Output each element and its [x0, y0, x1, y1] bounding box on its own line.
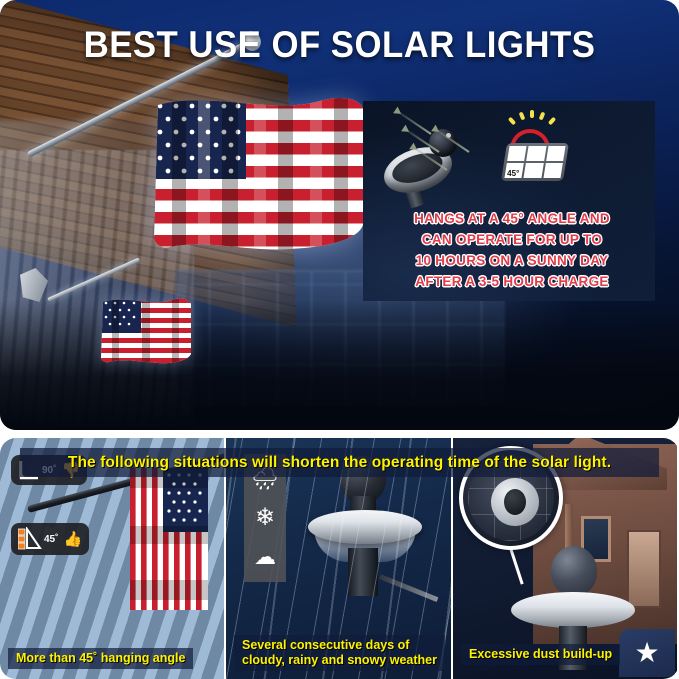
- panel-cell: [546, 146, 566, 161]
- american-flag-vertical: [130, 468, 208, 610]
- panel1-caption: More than 45˚ hanging angle: [8, 648, 193, 669]
- star-icon: ★: [634, 639, 659, 667]
- warning-banner: The following situations will shorten th…: [20, 448, 659, 477]
- panel3-caption: Excessive dust build-up: [461, 644, 620, 665]
- solar-panel-sun-icon: 45°: [496, 115, 574, 185]
- thumbs-up-icon: 👍: [63, 530, 82, 548]
- info-line: HANGS AT A 45° ANGLE AND: [381, 208, 643, 229]
- page-title: BEST USE OF SOLAR LIGHTS: [20, 24, 658, 66]
- panel-angle-label: 45°: [507, 169, 519, 178]
- info-line: CAN OPERATE FOR UP TO: [381, 229, 643, 250]
- info-panel: 45° HANGS AT A 45° ANGLE AND CAN OPERATE…: [363, 101, 655, 301]
- snowflake-icon: ❄: [255, 506, 275, 530]
- flag-star-decor: ★: [619, 629, 675, 677]
- panel2-caption: Several consecutive days of cloudy, rain…: [234, 635, 445, 671]
- panel-cell: [526, 146, 546, 161]
- sun-ray-icon: [508, 117, 516, 126]
- banner-text: The following situations will shorten th…: [68, 454, 611, 472]
- panel-cell: [507, 146, 527, 161]
- ball-ornament: [551, 546, 597, 596]
- caption-text-line2: cloudy, rainy and snowy weather: [242, 653, 437, 668]
- american-flag-small: [100, 298, 192, 368]
- panel-icon: 45°: [501, 143, 569, 181]
- infographic-root: BEST USE OF SOLAR LIGHTS: [0, 0, 679, 679]
- house-door-decor: [627, 530, 661, 608]
- cloudy-icon: ☁: [254, 546, 276, 568]
- caption-text-line1: Several consecutive days of: [242, 638, 437, 653]
- american-flag-large: [150, 97, 365, 262]
- badge-angle-label: 45˚: [44, 534, 58, 545]
- angle-45-icon: [18, 527, 42, 551]
- panel-cell: [524, 163, 544, 178]
- info-text-block: HANGS AT A 45° ANGLE AND CAN OPERATE FOR…: [381, 208, 643, 292]
- caption-text: Excessive dust build-up: [469, 647, 612, 662]
- solar-light-device-icon: [381, 121, 473, 203]
- info-line: AFTER A 3-5 HOUR CHARGE: [381, 271, 643, 292]
- info-line: 10 HOURS ON A SUNNY DAY: [381, 250, 643, 271]
- panel-center-hub: [491, 478, 539, 526]
- caption-text: More than 45˚ hanging angle: [16, 651, 185, 666]
- top-hero-section: BEST USE OF SOLAR LIGHTS: [0, 0, 679, 430]
- sun-ray-icon: [530, 110, 534, 118]
- badge-45-degree: 45˚ 👍: [11, 523, 89, 555]
- fixture-disc: [511, 592, 635, 628]
- sun-ray-icon: [548, 117, 556, 126]
- panel-cell: [543, 163, 563, 178]
